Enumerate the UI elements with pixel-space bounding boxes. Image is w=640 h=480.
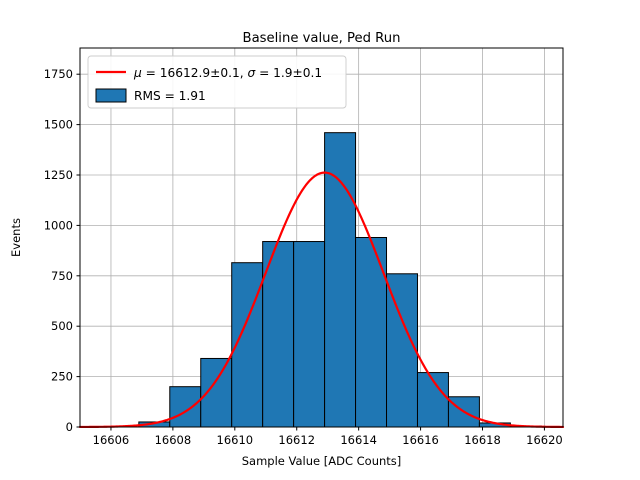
chart-title: Baseline value, Ped Run — [243, 31, 401, 46]
matplotlib-figure: Baseline value, Ped Run 1660616608166101… — [0, 0, 640, 480]
y-tick-label: 250 — [51, 370, 73, 384]
x-tick-label: 16612 — [278, 433, 315, 447]
x-tick-label: 16616 — [402, 433, 439, 447]
x-tick-label: 16610 — [217, 433, 254, 447]
mu-symbol: μ — [133, 66, 142, 80]
x-axis-label: Sample Value [ADC Counts] — [242, 454, 402, 468]
legend-background — [88, 56, 346, 108]
x-tick-label: 16618 — [464, 433, 501, 447]
y-tick-label: 500 — [51, 319, 73, 333]
legend-label-rms: RMS = 1.91 — [134, 89, 206, 103]
y-tick-label: 750 — [51, 269, 73, 283]
y-tick-label: 1000 — [44, 218, 73, 232]
y-tick-label: 1500 — [44, 118, 73, 132]
legend-label-gaussian: μ = 16612.9±0.1, σ = 1.9±0.1 — [133, 66, 322, 80]
chart-legend[interactable]: μ = 16612.9±0.1, σ = 1.9±0.1 RMS = 1.91 — [88, 56, 346, 108]
x-tick-label: 16620 — [526, 433, 563, 447]
legend-patch-marker — [96, 89, 126, 102]
y-axis-label: Events — [9, 218, 23, 257]
x-tick-label: 16608 — [155, 433, 192, 447]
x-tick-label: 16614 — [340, 433, 377, 447]
sigma-value: = 1.9±0.1 — [255, 66, 322, 80]
histogram-bar — [294, 242, 325, 427]
legend-entry-histogram: RMS = 1.91 — [96, 89, 206, 103]
histogram-bar — [387, 274, 418, 427]
histogram-chart: Baseline value, Ped Run 1660616608166101… — [0, 0, 640, 480]
mu-value: = 16612.9±0.1, — [142, 66, 248, 80]
y-tick-label: 0 — [66, 420, 73, 434]
x-tick-label: 16606 — [93, 433, 130, 447]
histogram-bar — [170, 387, 201, 427]
histogram-bar — [325, 133, 356, 427]
y-tick-label: 1750 — [44, 67, 73, 81]
y-tick-label: 1250 — [44, 168, 73, 182]
